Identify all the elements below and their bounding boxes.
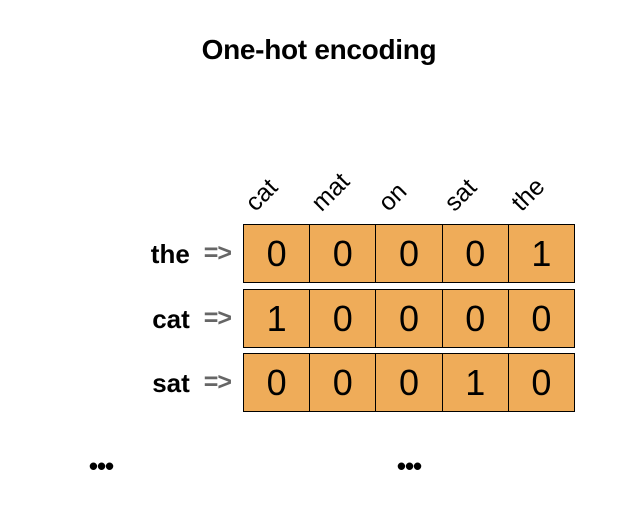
page-title: One-hot encoding — [0, 34, 638, 66]
matrix-cell: 0 — [310, 290, 376, 347]
column-header-label: sat — [441, 175, 482, 216]
matrix-cell: 1 — [509, 225, 574, 282]
matrix-cell: 0 — [244, 225, 310, 282]
matrix-cell: 0 — [244, 354, 310, 411]
matrix-cell: 0 — [310, 354, 376, 411]
maps-to-arrow-icon: => — [204, 241, 231, 266]
column-header-label: the — [507, 174, 549, 216]
column-header-label: cat — [241, 175, 282, 216]
matrix-cell: 0 — [443, 225, 509, 282]
row-word: cat — [152, 306, 190, 332]
matrix-cell: 1 — [244, 290, 310, 347]
row-label-the: the => — [0, 224, 243, 283]
matrix-cell: 0 — [443, 290, 509, 347]
matrix-cell: 0 — [509, 354, 574, 411]
row-word: sat — [152, 370, 190, 396]
row-label-cat: cat => — [0, 289, 243, 348]
maps-to-arrow-icon: => — [204, 306, 231, 331]
one-hot-matrix: 0 0 0 0 1 1 0 0 0 0 0 0 0 1 0 — [243, 224, 575, 412]
column-header-label: mat — [308, 169, 355, 216]
row-word: the — [151, 241, 190, 267]
one-hot-encoding-figure: One-hot encoding cat mat on sat the the … — [0, 0, 638, 522]
matrix-cell: 0 — [376, 354, 442, 411]
row-labels-ellipsis: ••• — [89, 453, 113, 479]
column-header-label: on — [374, 179, 411, 216]
table-row: 0 0 0 0 1 — [243, 224, 575, 283]
maps-to-arrow-icon: => — [204, 370, 231, 395]
column-header-mat: mat — [309, 124, 375, 218]
column-header-cat: cat — [243, 124, 309, 218]
column-header-the: the — [509, 124, 575, 218]
matrix-cell: 0 — [310, 225, 376, 282]
matrix-cell: 1 — [443, 354, 509, 411]
matrix-cell: 0 — [376, 225, 442, 282]
matrix-cell: 0 — [376, 290, 442, 347]
matrix-cell: 0 — [509, 290, 574, 347]
table-row: 1 0 0 0 0 — [243, 289, 575, 348]
column-header-on: on — [376, 124, 442, 218]
table-row: 0 0 0 1 0 — [243, 353, 575, 412]
column-header-row: cat mat on sat the — [243, 124, 575, 218]
column-header-sat: sat — [442, 124, 508, 218]
row-label-sat: sat => — [0, 353, 243, 412]
matrix-ellipsis: ••• — [397, 453, 421, 479]
row-label-column: the => cat => sat => — [0, 224, 243, 412]
